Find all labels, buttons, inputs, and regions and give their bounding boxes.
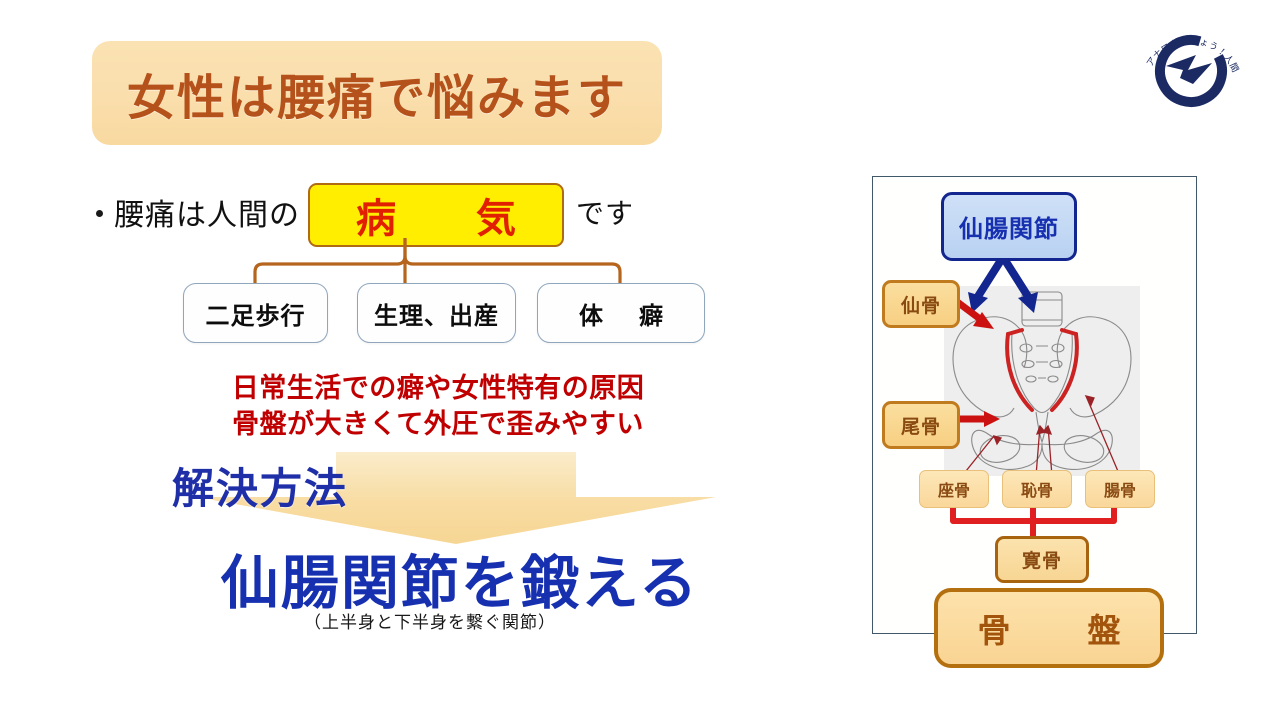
cause-box-2[interactable]: 体 癖 — [537, 283, 705, 343]
bird-logo-icon: アナログでしょう！人間だから。 — [1136, 8, 1246, 113]
hip-bone-label: 寛骨 — [1022, 546, 1062, 573]
cause-box-1[interactable]: 生理、出産 — [357, 283, 516, 343]
sacrum-tag[interactable]: 仙骨 — [882, 280, 960, 328]
cause-connector-lines — [150, 238, 730, 288]
pubis-label: 恥骨 — [1021, 477, 1053, 501]
pelvis-label: 骨 盤 — [956, 604, 1143, 652]
disease-highlight-text: 病 気 — [336, 186, 536, 244]
logo-bird-shape — [1166, 55, 1212, 84]
cause-box-0[interactable]: 二足歩行 — [183, 283, 328, 343]
pelvis-box[interactable]: 骨 盤 — [934, 588, 1164, 668]
sacroiliac-joint-label: 仙腸関節 — [959, 209, 1059, 244]
bullet-suffix-text: です — [576, 192, 634, 232]
cause-label-0: 二足歩行 — [206, 296, 306, 331]
sacrum-label: 仙骨 — [901, 291, 941, 318]
solution-label: 解決方法 — [0, 455, 520, 516]
reason-line-0: 日常生活での癖や女性特有の原因 — [88, 366, 788, 405]
bullet-prefix-text: 腰痛は人間の — [114, 190, 300, 234]
ischium-label: 座骨 — [938, 477, 970, 501]
company-logo: アナログでしょう！人間だから。 — [1136, 8, 1246, 113]
reason-line-1: 骨盤が大きくて外圧で歪みやすい — [88, 402, 788, 441]
cause-label-1: 生理、出産 — [374, 296, 499, 331]
pelvis-illustration — [944, 286, 1140, 476]
pelvis-bone-drawing-icon — [944, 286, 1140, 476]
pubis-tag[interactable]: 恥骨 — [1002, 470, 1072, 508]
ischium-tag[interactable]: 座骨 — [919, 470, 989, 508]
coccyx-label: 尾骨 — [901, 412, 941, 439]
hip-bone-box[interactable]: 寛骨 — [995, 536, 1089, 583]
conclusion-note: （上半身と下半身を繋ぐ関節） — [150, 608, 710, 633]
sacroiliac-joint-box[interactable]: 仙腸関節 — [941, 192, 1077, 261]
ilium-label: 腸骨 — [1104, 477, 1136, 501]
bullet-dot-icon — [96, 210, 103, 217]
page-title: 女性は腰痛で悩みます — [127, 58, 627, 128]
ilium-tag[interactable]: 腸骨 — [1085, 470, 1155, 508]
cause-label-2: 体 癖 — [573, 296, 669, 331]
slide-root: アナログでしょう！人間だから。 女性は腰痛で悩みます 腰痛は人間の 病 気 です… — [0, 0, 1280, 720]
coccyx-tag[interactable]: 尾骨 — [882, 401, 960, 449]
slide-title-box: 女性は腰痛で悩みます — [92, 41, 662, 145]
